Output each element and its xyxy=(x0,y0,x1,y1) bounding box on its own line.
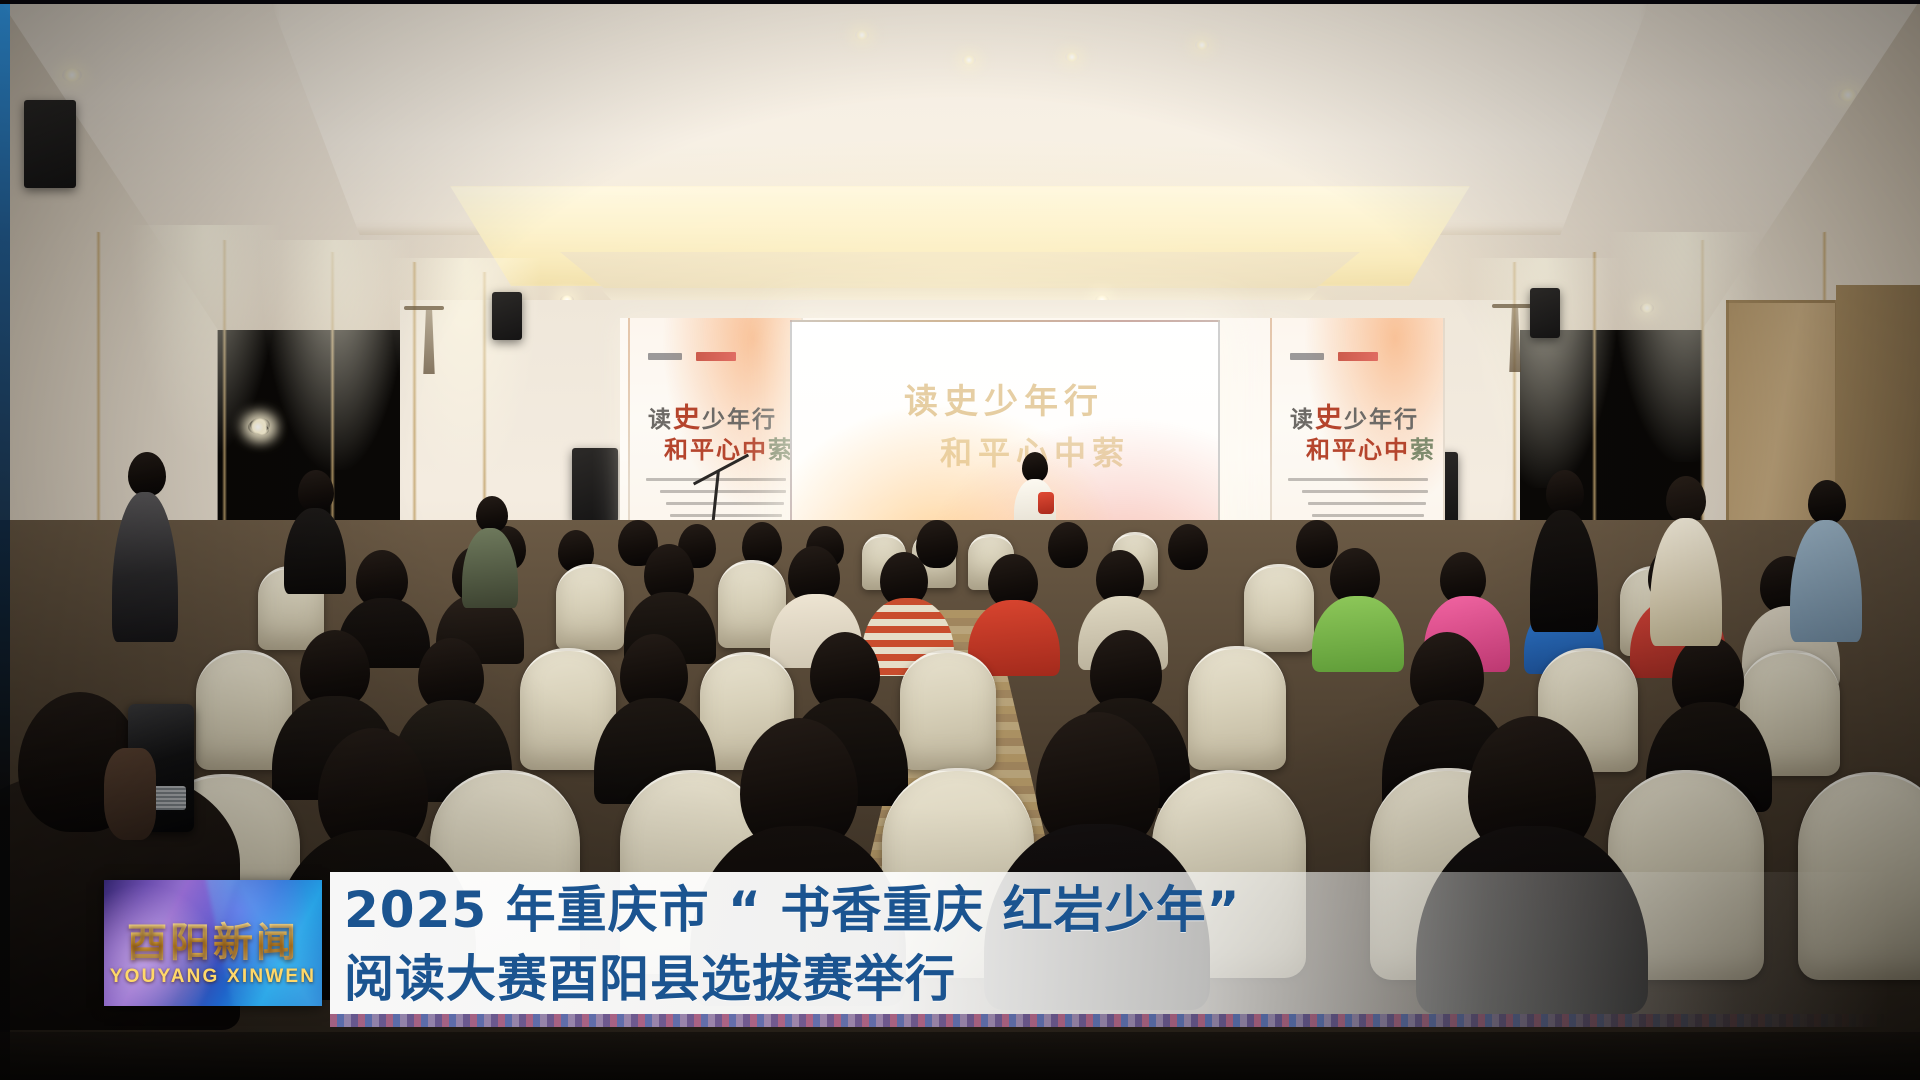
host-head xyxy=(1666,476,1706,522)
video-frame: 读史少年行 和平心中萦 读史少年行 和平心中萦 xyxy=(0,0,1920,1080)
ceiling-downlight xyxy=(1065,52,1079,62)
poster-calligraphy-line2: 和平心中萦 xyxy=(1306,430,1436,465)
audience-chair xyxy=(556,564,624,650)
wall-light-wash xyxy=(260,240,410,470)
headline-decorative-strip xyxy=(330,1014,1890,1027)
presenter-head xyxy=(1022,452,1048,482)
ceiling-downlight xyxy=(1195,40,1209,50)
standing-attendee-right xyxy=(1530,470,1600,630)
poster-logo-row xyxy=(648,352,736,361)
attendee-torso xyxy=(284,508,346,594)
poster-calligraphy-line2: 和平心中萦 xyxy=(664,430,794,465)
wall-speaker xyxy=(1530,288,1560,338)
attendee-head xyxy=(1808,480,1846,524)
lower-third-graphics: 酉阳新闻 YOUYANG XINWEN 2025 年重庆市 “ 书香重庆 红岩少… xyxy=(0,850,1920,1080)
poster-logo-row xyxy=(1290,352,1378,361)
poster-logo-mark-red xyxy=(696,352,736,361)
audience-head xyxy=(1168,524,1208,570)
channel-logo: 酉阳新闻 YOUYANG XINWEN xyxy=(104,880,322,1006)
audience-chair xyxy=(900,650,996,770)
attendant-torso xyxy=(112,492,178,642)
wall-speaker xyxy=(24,100,76,188)
frame-bottom-letterbox xyxy=(0,1032,1920,1080)
audience-chair xyxy=(1188,646,1286,770)
audience-head xyxy=(1296,520,1338,568)
headline-text: 2025 年重庆市 “ 书香重庆 红岩少年” 阅读大赛酉阳县选拔赛举行 xyxy=(344,876,1241,1014)
standing-attendee xyxy=(462,496,520,606)
headline-line-2: 阅读大赛酉阳县选拔赛举行 xyxy=(344,945,1241,1014)
poster-logo-mark xyxy=(648,353,682,360)
channel-logo-name-en: YOUYANG XINWEN xyxy=(104,966,322,988)
audience-head xyxy=(916,520,958,568)
ceiling-downlight xyxy=(962,55,976,65)
headline-line-1: 2025 年重庆市 “ 书香重庆 红岩少年” xyxy=(344,876,1241,945)
screen-calligraphy-line1: 读史少年行 xyxy=(904,374,1104,423)
ceiling-downlight xyxy=(855,30,869,40)
standing-attendant-left xyxy=(108,452,182,642)
wall-light-wash xyxy=(130,225,280,455)
attendee-torso xyxy=(1790,520,1862,642)
attendee-head xyxy=(298,470,334,512)
channel-logo-name-cn: 酉阳新闻 xyxy=(104,910,322,968)
attendee-torso xyxy=(1530,510,1598,632)
attendee-torso xyxy=(462,528,518,608)
host-torso xyxy=(1650,518,1722,646)
headline-panel: 2025 年重庆市 “ 书香重庆 红岩少年” 阅读大赛酉阳县选拔赛举行 xyxy=(330,872,1890,1014)
standing-host-right xyxy=(1650,476,1724,646)
frame-top-edge xyxy=(0,0,1920,4)
presenter-microphone xyxy=(1038,492,1054,514)
ceiling-downlight xyxy=(62,68,82,82)
standing-attendee-right xyxy=(1790,480,1864,640)
attendant-head xyxy=(128,452,166,496)
wall-sconce-arm xyxy=(404,306,444,310)
attendee-head xyxy=(1546,470,1584,514)
poster-logo-mark-red xyxy=(1338,352,1378,361)
audience-head xyxy=(1048,522,1088,568)
standing-attendee xyxy=(282,470,348,590)
attendee-head xyxy=(476,496,508,532)
wall-sconce-arm xyxy=(1492,304,1532,308)
wall-speaker xyxy=(492,292,522,340)
stage-monitor-speaker xyxy=(572,448,618,522)
audience-chair xyxy=(1244,564,1314,652)
spectator-hand xyxy=(104,748,156,840)
poster-logo-mark xyxy=(1290,353,1324,360)
